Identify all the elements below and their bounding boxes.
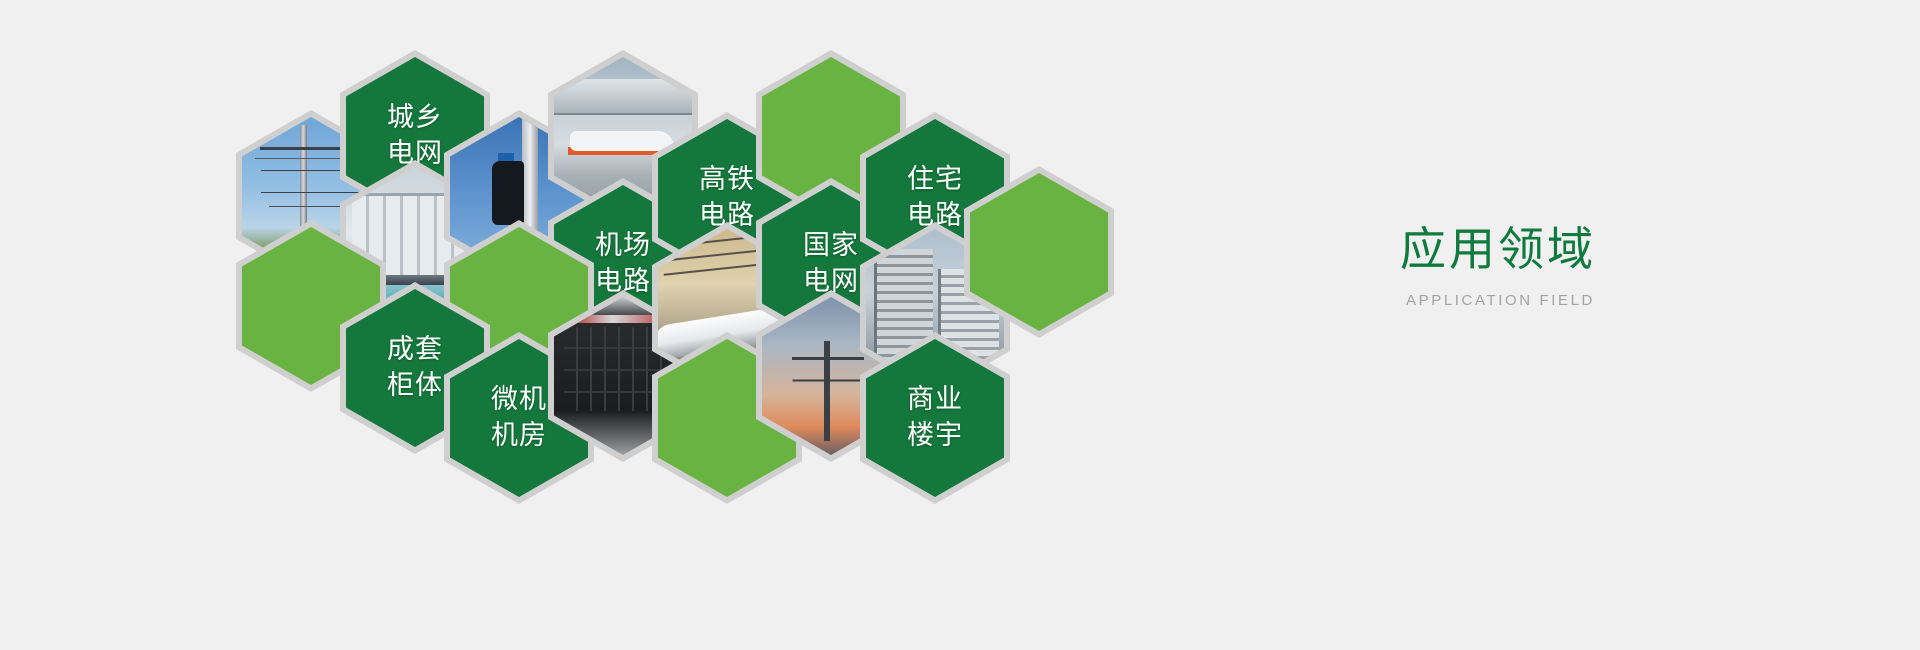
hex-label: 国家 电网 [803,228,859,299]
hex-label: 机场 电路 [595,228,651,299]
hex-label: 成套 柜体 [387,332,443,403]
hex-label: 微机 机房 [491,382,547,453]
hex-inner [970,173,1108,331]
application-field-banner: 城乡 电网机场 电路成套 柜体微机 机房高铁 电路国家 电网住宅 电路商业 楼宇… [0,0,1920,650]
heading-block: 应用领域 APPLICATION FIELD [1400,222,1870,309]
hex-label: 商业 楼宇 [907,382,963,453]
page-title: 应用领域 [1400,222,1870,276]
hex-inner: 商业 楼宇 [866,339,1004,497]
honeycomb-grid: 城乡 电网机场 电路成套 柜体微机 机房高铁 电路国家 电网住宅 电路商业 楼宇 [0,0,1340,650]
page-subtitle: APPLICATION FIELD [1406,292,1870,309]
